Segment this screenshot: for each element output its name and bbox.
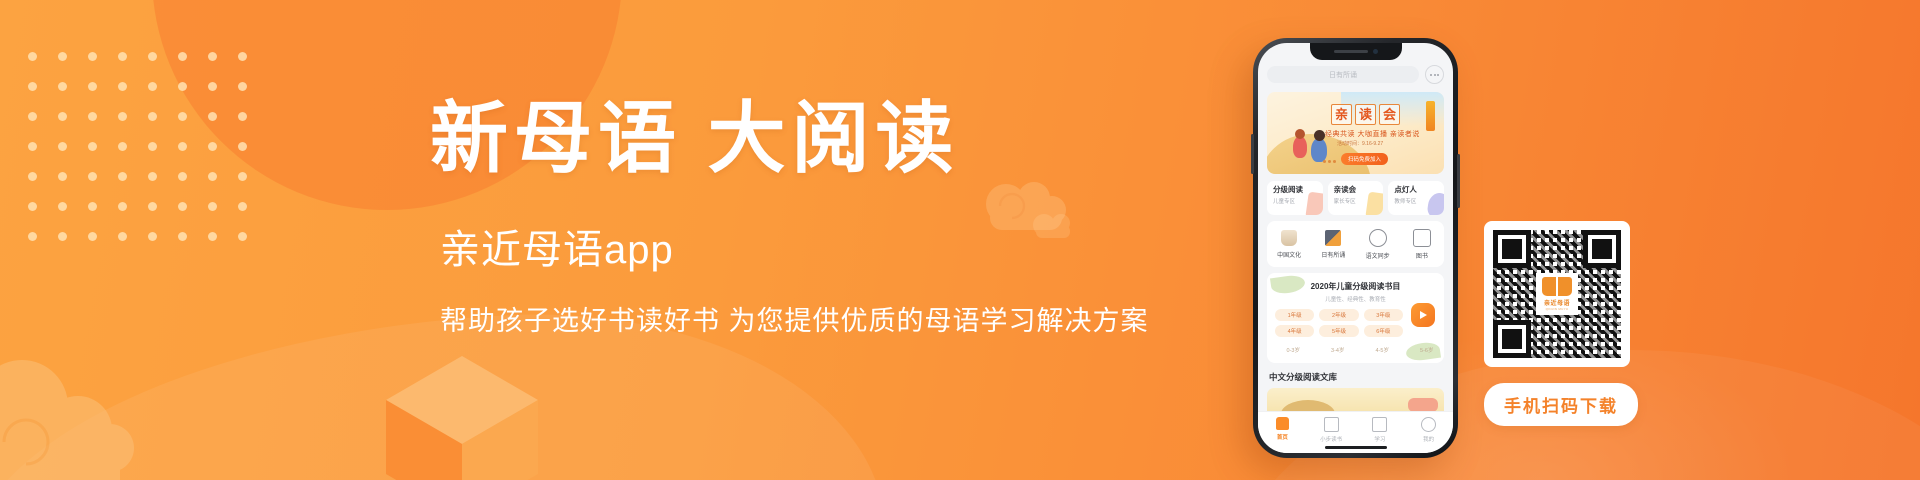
category-card-parent-club[interactable]: 亲读会 家长专区	[1328, 181, 1384, 215]
quick-link-books[interactable]: 图书	[1400, 229, 1444, 260]
phone-power-button	[1457, 154, 1460, 208]
grade-chip[interactable]: 1年级	[1275, 309, 1314, 321]
qr-code-card: 亲近母语 QINJIN MUYU	[1484, 221, 1630, 367]
app-search-row: 日有所诵	[1267, 65, 1444, 84]
category-cards: 分级阅读 儿童专区 亲读会 家长专区 点灯人 教师专区	[1267, 181, 1444, 215]
quick-links-row: 中国文化 日有所诵 语文同步 图书	[1267, 221, 1444, 267]
hero-title-char: 读	[1355, 104, 1376, 125]
grade-chip[interactable]: 2年级	[1319, 309, 1358, 321]
decorative-dot	[238, 142, 247, 151]
app-name-subhead: 亲近母语app	[440, 230, 1220, 270]
carousel-dot	[1333, 160, 1336, 163]
hero-flag-decoration	[1426, 101, 1435, 131]
quick-link-label: 日有所诵	[1311, 250, 1355, 259]
brand-logo-subtitle: QINJIN MUYU	[1546, 307, 1569, 311]
carousel-dot	[1323, 160, 1326, 163]
hero-title-char: 亲	[1331, 104, 1352, 125]
carousel-dot	[1328, 160, 1331, 163]
decorative-dot	[238, 202, 247, 211]
play-video-icon[interactable]	[1411, 303, 1435, 327]
brand-logo-title: 亲近母语	[1544, 298, 1570, 307]
decorative-dot	[148, 112, 157, 121]
play-triangle	[1420, 311, 1427, 319]
decorative-dot	[58, 82, 67, 91]
home-indicator	[1325, 446, 1387, 449]
dot-grid-decoration	[28, 52, 268, 262]
decorative-dot	[28, 172, 37, 181]
app-content: 日有所诵 亲 读	[1258, 43, 1453, 453]
decorative-dot	[178, 232, 187, 241]
hero-title: 亲 读 会	[1331, 104, 1400, 125]
grade-chip[interactable]: 3年级	[1364, 309, 1403, 321]
hero-cta-button[interactable]: 扫码免费加入	[1341, 153, 1388, 165]
decorative-dot	[58, 202, 67, 211]
qr-finder-top-left	[1493, 230, 1531, 268]
decorative-dot	[28, 112, 37, 121]
qr-finder-top-right	[1583, 230, 1621, 268]
decorative-dot	[28, 142, 37, 151]
tab-reading[interactable]: 小步读书	[1307, 417, 1356, 443]
profile-icon	[1421, 417, 1436, 432]
search-placeholder: 日有所诵	[1329, 70, 1357, 80]
leaf-decoration-icon	[1270, 274, 1306, 296]
decorative-dot	[208, 202, 217, 211]
quick-link-label: 语文同步	[1356, 251, 1400, 260]
decorative-dot	[28, 232, 37, 241]
banner-copy: 新母语 大阅读 亲近母语app 帮助孩子选好书读好书 为您提供优质的母语学习解决…	[430, 100, 1220, 335]
decorative-dot	[208, 232, 217, 241]
tab-study[interactable]: 学习	[1356, 417, 1405, 443]
decorative-dot	[148, 232, 157, 241]
decorative-dot	[238, 172, 247, 181]
age-range-row: 0-3岁 3-4岁 4-5岁 5-6岁	[1275, 346, 1444, 354]
decorative-dot	[28, 52, 37, 61]
decorative-dot	[178, 82, 187, 91]
book-decoration-icon	[1366, 192, 1384, 215]
decorative-dot	[88, 232, 97, 241]
decorative-dot	[208, 112, 217, 121]
tab-label: 学习	[1356, 435, 1405, 443]
tab-label: 小步读书	[1307, 435, 1356, 443]
decorative-dot	[178, 172, 187, 181]
decorative-dot	[118, 232, 127, 241]
qr-code-image: 亲近母语 QINJIN MUYU	[1493, 230, 1621, 358]
decorative-dot	[58, 142, 67, 151]
auspicious-cloud-icon	[0, 344, 220, 480]
more-dot	[1430, 74, 1432, 76]
age-chip[interactable]: 5-6岁	[1409, 346, 1445, 354]
person-decoration-icon	[1426, 192, 1444, 215]
decorative-dot	[208, 142, 217, 151]
decorative-dot	[148, 172, 157, 181]
decorative-dot	[58, 112, 67, 121]
decorative-dot	[148, 142, 157, 151]
decorative-dot	[28, 202, 37, 211]
book-decoration-icon	[1305, 192, 1323, 215]
decorative-dot	[88, 82, 97, 91]
decorative-dot	[148, 52, 157, 61]
recite-icon	[1325, 230, 1341, 246]
more-icon[interactable]	[1425, 65, 1444, 84]
decorative-dot	[118, 202, 127, 211]
age-chip[interactable]: 4-5岁	[1364, 346, 1401, 354]
phone-mockup: 日有所诵 亲 读	[1253, 38, 1458, 458]
decorative-dot	[88, 172, 97, 181]
decorative-dot	[238, 112, 247, 121]
decorative-dot	[238, 52, 247, 61]
brand-logo: 亲近母语 QINJIN MUYU	[1536, 273, 1578, 315]
tab-label: 我的	[1404, 435, 1453, 443]
banner-tagline: 帮助孩子选好书读好书 为您提供优质的母语学习解决方案	[440, 308, 1220, 335]
decorative-dot	[58, 232, 67, 241]
library-section-title: 中文分级阅读文库	[1267, 371, 1444, 383]
decorative-dot	[88, 112, 97, 121]
earpiece-speaker-icon	[1334, 50, 1368, 53]
age-chip[interactable]: 3-4岁	[1320, 346, 1357, 354]
phone-screen: 日有所诵 亲 读	[1258, 43, 1453, 453]
study-icon	[1372, 417, 1387, 432]
decorative-dot	[28, 82, 37, 91]
decorative-dot	[208, 52, 217, 61]
culture-icon	[1281, 230, 1297, 246]
decorative-dot	[178, 142, 187, 151]
decorative-dot	[208, 172, 217, 181]
grade-chip[interactable]: 6年级	[1364, 325, 1403, 337]
promo-banner: 新母语 大阅读 亲近母语app 帮助孩子选好书读好书 为您提供优质的母语学习解决…	[0, 0, 1920, 480]
illustration-child-a	[1293, 136, 1307, 158]
tab-label: 首页	[1258, 433, 1307, 441]
decorative-dot	[88, 52, 97, 61]
front-camera-icon	[1373, 49, 1378, 54]
reading-icon	[1324, 417, 1339, 432]
more-dot	[1437, 74, 1439, 76]
quick-link-culture[interactable]: 中国文化	[1267, 230, 1311, 259]
decorative-dot	[238, 82, 247, 91]
tab-home[interactable]: 首页	[1258, 417, 1307, 441]
library-illustration-block	[1408, 398, 1438, 412]
isometric-cube-decoration	[382, 348, 542, 480]
decorative-dot	[58, 52, 67, 61]
carousel-dots[interactable]	[1323, 160, 1336, 163]
grade-chip[interactable]: 5年级	[1319, 325, 1358, 337]
decorative-dot	[238, 232, 247, 241]
more-dot	[1434, 74, 1436, 76]
decorative-dot	[178, 52, 187, 61]
quick-link-recite[interactable]: 日有所诵	[1311, 230, 1355, 259]
decorative-dot	[178, 202, 187, 211]
grade-chip-grid: 1年级 2年级 3年级 4年级 5年级 6年级	[1275, 309, 1403, 337]
search-input[interactable]: 日有所诵	[1267, 66, 1419, 83]
booklist-subtitle: 儿童性、经典性、教育性	[1267, 295, 1444, 303]
decorative-dot	[178, 112, 187, 121]
decorative-dot	[118, 172, 127, 181]
phone-volume-button	[1251, 134, 1254, 174]
book-icon	[1413, 229, 1431, 247]
category-card-graded-reading[interactable]: 分级阅读 儿童专区	[1267, 181, 1323, 215]
decorative-dot	[118, 52, 127, 61]
tab-profile[interactable]: 我的	[1404, 417, 1453, 443]
hero-subtitle: 经典共读 大咖直播 亲读者说	[1325, 129, 1420, 139]
decorative-dot	[118, 112, 127, 121]
qr-download-block: 亲近母语 QINJIN MUYU 手机扫码下载	[1484, 221, 1630, 426]
decorative-dot	[148, 202, 157, 211]
page-title: 新母语 大阅读	[430, 100, 1220, 178]
download-button[interactable]: 手机扫码下载	[1484, 383, 1638, 426]
open-book-icon	[1542, 277, 1572, 296]
category-card-teacher[interactable]: 点灯人 教师专区	[1388, 181, 1444, 215]
hero-title-char: 会	[1379, 104, 1400, 125]
quick-link-label: 中国文化	[1267, 250, 1311, 259]
category-card-title: 点灯人	[1394, 186, 1438, 194]
quick-link-sync[interactable]: 语文同步	[1356, 229, 1400, 260]
decorative-dot	[88, 142, 97, 151]
phone-notch	[1310, 43, 1402, 60]
graded-booklist-card: 2020年儿童分级阅读书目 儿童性、经典性、教育性 1年级 2年级 3年级 4年…	[1267, 273, 1444, 363]
home-icon	[1276, 417, 1289, 430]
decorative-dot	[118, 82, 127, 91]
illustration-child-b	[1311, 138, 1327, 162]
hero-detail: 活动时间：9.16-9.27	[1337, 140, 1383, 147]
qr-finder-bottom-left	[1493, 320, 1531, 358]
sync-icon	[1369, 229, 1387, 247]
decorative-dot	[118, 142, 127, 151]
decorative-dot	[88, 202, 97, 211]
decorative-dot	[148, 82, 157, 91]
decorative-dot	[58, 172, 67, 181]
hero-banner-card[interactable]: 亲 读 会 经典共读 大咖直播 亲读者说 活动时间：9.16-9.27 扫码免费…	[1267, 92, 1444, 174]
quick-link-label: 图书	[1400, 251, 1444, 260]
decorative-dot	[208, 82, 217, 91]
grade-chip[interactable]: 4年级	[1275, 325, 1314, 337]
age-chip[interactable]: 0-3岁	[1275, 346, 1312, 354]
